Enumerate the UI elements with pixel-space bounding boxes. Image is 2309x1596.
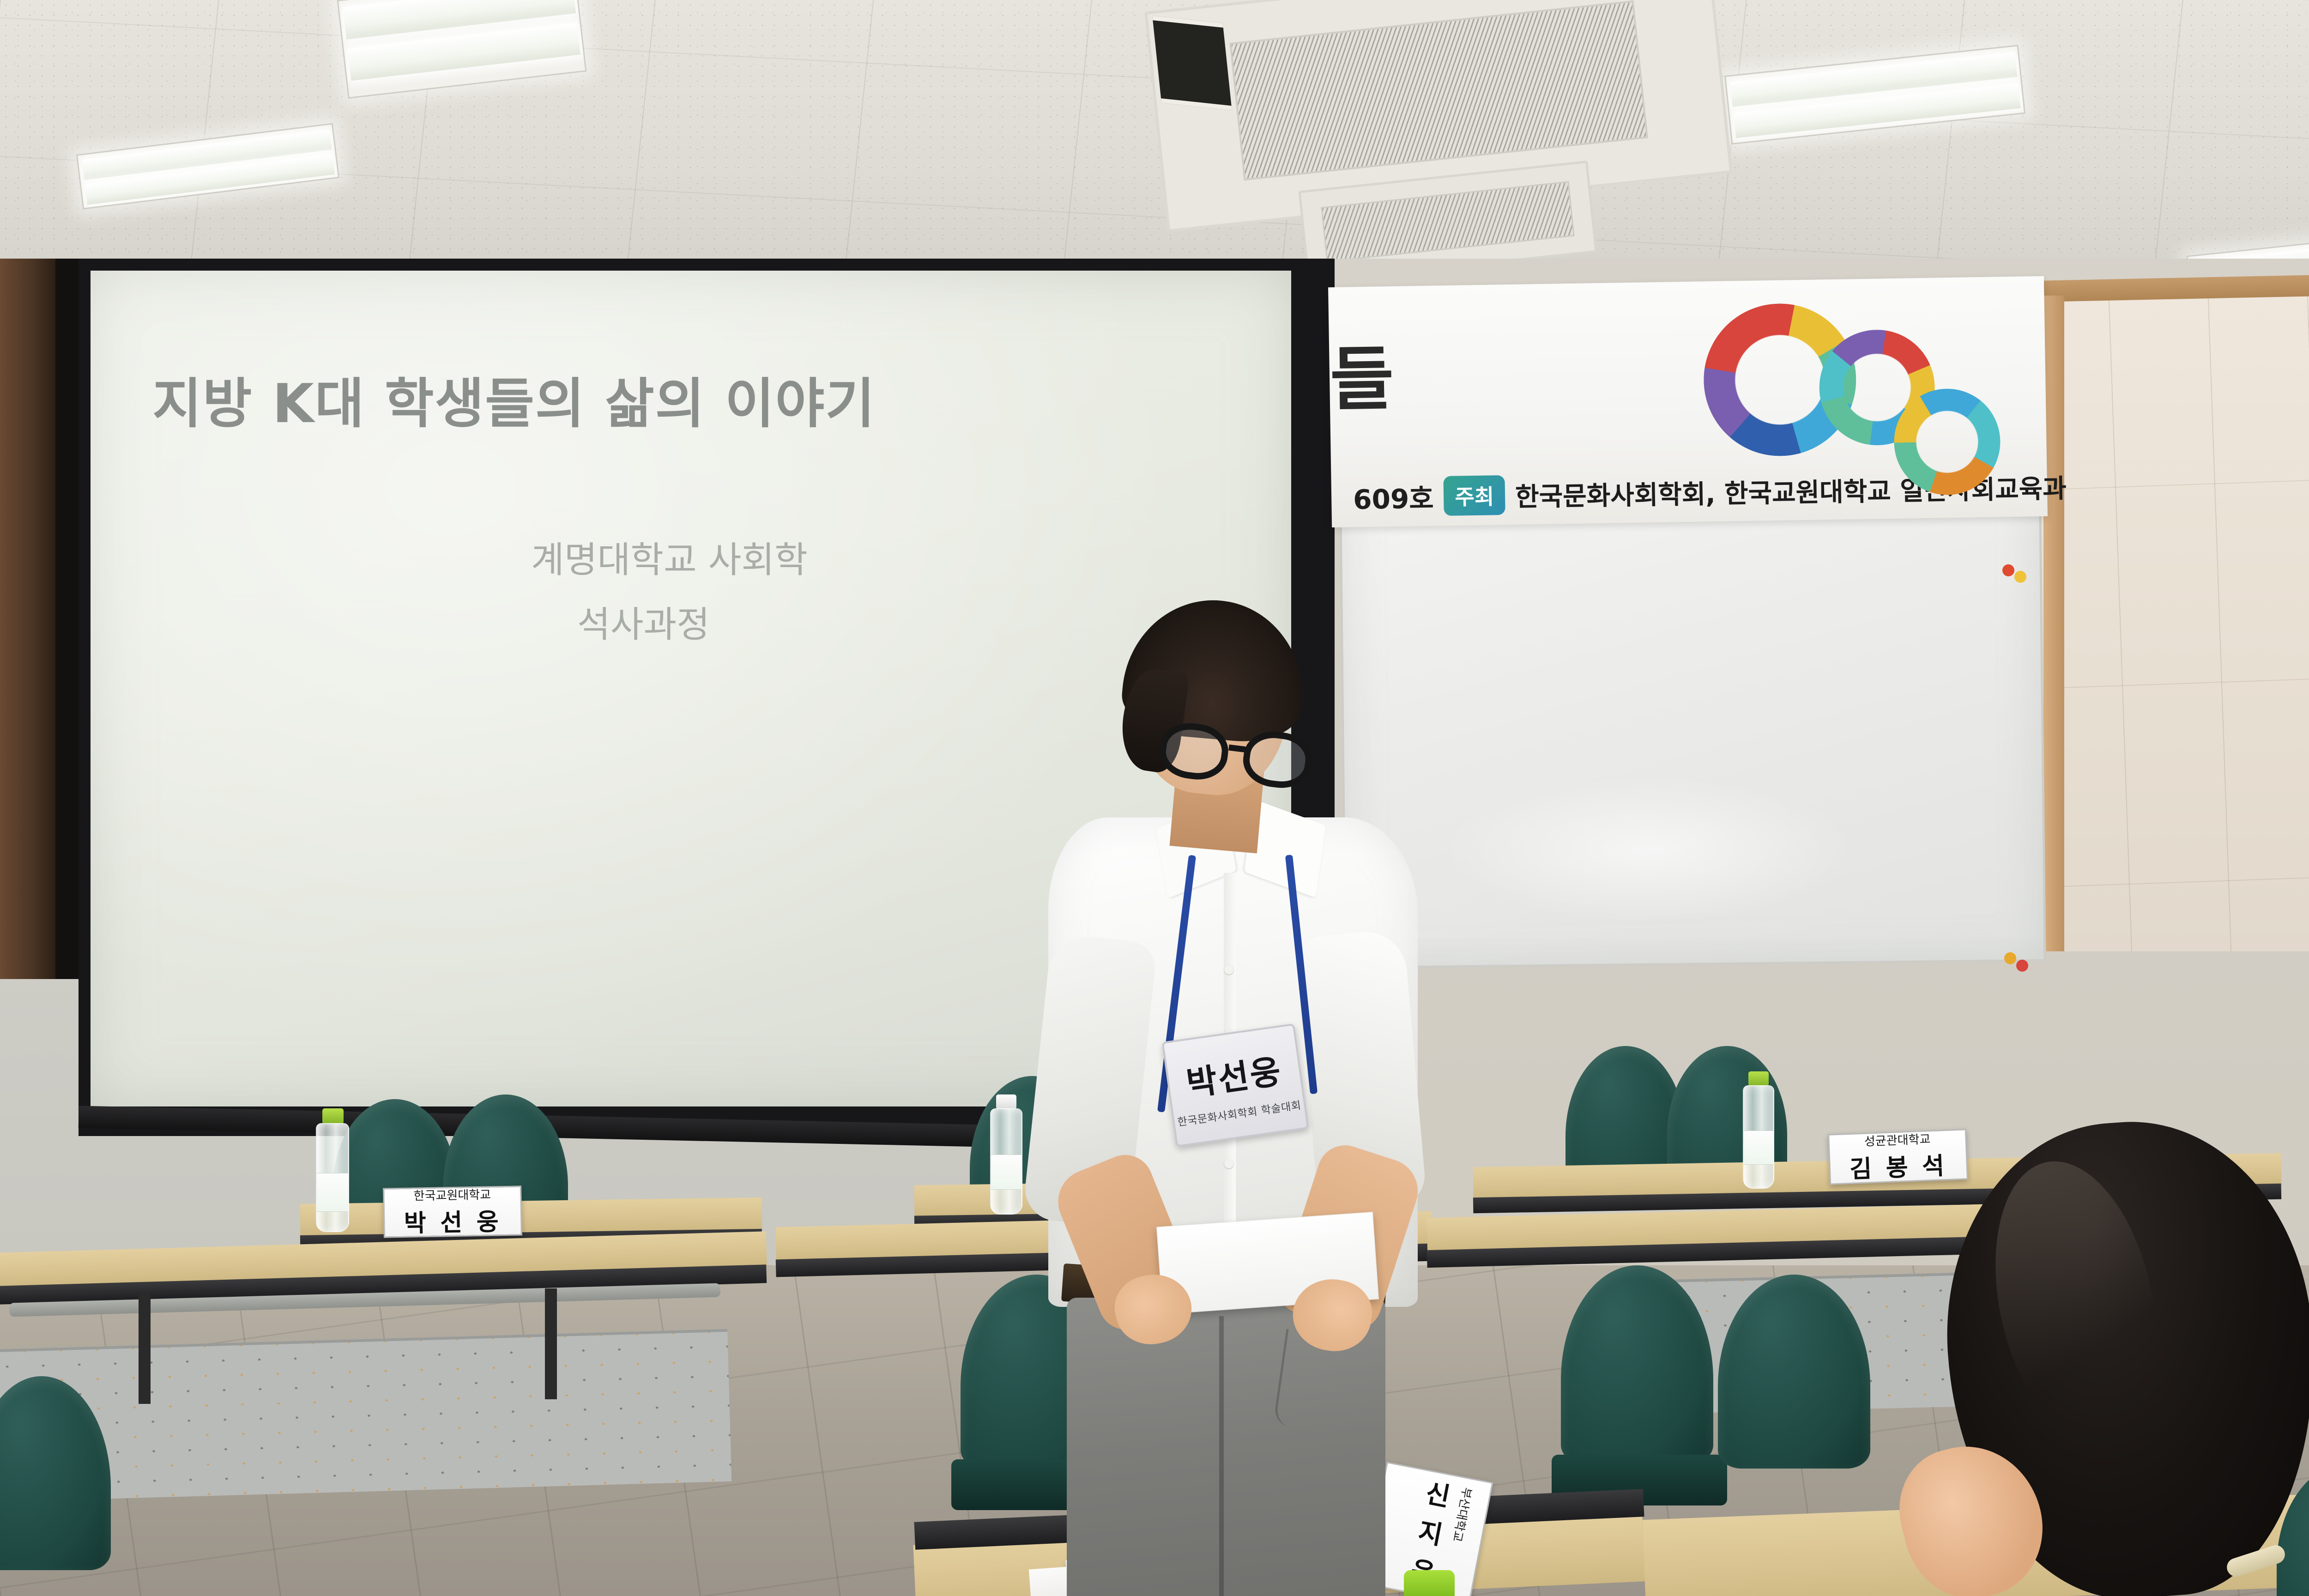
bottle-label (317, 1173, 348, 1212)
doorway-shadow (55, 259, 81, 979)
whiteboard-glare (1441, 776, 1856, 924)
placard-name: 박 선 웅 (404, 1202, 502, 1238)
banner-host-badge: 주최 (1444, 475, 1505, 516)
banner-room-number: 609호 (1353, 477, 1434, 517)
ac-vent-vane (1152, 16, 1232, 110)
table-leg (139, 1293, 151, 1404)
seminar-room-photo: 지방 K대 학생들의 삶의 이야기 계명대학교 사회학 석사과정 들 609호 … (0, 0, 2309, 1596)
whiteboard-magnet[interactable] (2014, 571, 2026, 583)
shirt-button (1224, 1159, 1233, 1168)
bottle-cap (322, 1108, 344, 1124)
table-leg (545, 1288, 557, 1399)
doorway-gap (0, 259, 55, 979)
ac-grille (1321, 181, 1575, 262)
whiteboard-magnet[interactable] (2004, 952, 2016, 964)
whiteboard-magnet[interactable] (2002, 564, 2014, 576)
bottle-cap (1748, 1071, 1769, 1086)
whiteboard-magnet[interactable] (2016, 960, 2028, 972)
name-placard[interactable]: 한국교원대학교 박 선 웅 (383, 1185, 522, 1238)
eyeglass-lens (1157, 719, 1232, 783)
green-item[interactable] (1404, 1570, 1455, 1596)
trouser-seam (1219, 1316, 1224, 1596)
presenter: 박선웅 한국문화사회학회 학술대회 (1021, 614, 1418, 1538)
wood-trim-left (2043, 296, 2064, 951)
banner-heading-partial: 들 (1329, 323, 1394, 424)
bottle-label (991, 1155, 1022, 1190)
placard-org: 한국교원대학교 (413, 1185, 491, 1203)
eyeglass-lens (1240, 728, 1315, 792)
ac-grille (1229, 0, 1648, 181)
interlocking-rings-logo (1703, 300, 2001, 499)
water-bottle[interactable] (1741, 1071, 1776, 1190)
logo-ring-partial (1893, 388, 2001, 496)
wood-panel-seams (2032, 291, 2309, 951)
slide-subtitle-line1: 계명대학교 사회학 (531, 531, 1224, 583)
bottle-cap (996, 1094, 1016, 1109)
badge-name: 박선웅 (1183, 1044, 1285, 1105)
slide-title: 지방 K대 학생들의 삶의 이야기 (152, 360, 1076, 438)
water-bottle[interactable] (988, 1094, 1024, 1215)
name-badge: 박선웅 한국문화사회학회 학술대회 (1161, 1023, 1309, 1147)
water-bottle[interactable] (314, 1108, 351, 1233)
shirt-button (1224, 965, 1233, 974)
seated-attendee (1893, 1122, 2309, 1596)
eyeglass-bridge (1228, 744, 1245, 752)
bottle-label (1744, 1130, 1773, 1165)
